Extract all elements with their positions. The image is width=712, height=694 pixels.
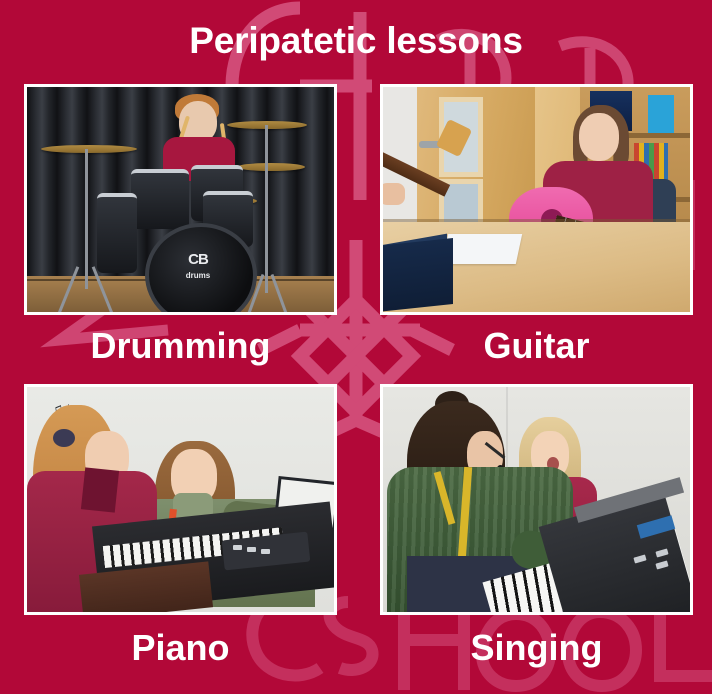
pupil-collar xyxy=(81,467,119,512)
lesson-label-singing: Singing xyxy=(380,615,693,681)
piano-photo: ♫♩ xyxy=(27,387,334,612)
guitar-photo-frame xyxy=(380,84,693,315)
lesson-card-piano[interactable]: ♫♩ xyxy=(24,384,337,686)
keyboard-button-2 xyxy=(247,547,256,552)
lesson-label-guitar: Guitar xyxy=(380,315,693,377)
lesson-card-grid: CB drums Drumming xyxy=(0,84,712,694)
tutor-hand xyxy=(383,183,405,205)
drum-brand-subtitle: drums xyxy=(186,271,210,280)
peripatetic-lessons-poster: Peripatetic lessons xyxy=(0,0,712,694)
cymbal-right-mid xyxy=(237,163,305,171)
keyboard-button-3 xyxy=(261,549,270,554)
singing-photo xyxy=(383,387,690,612)
cymbal-stand-left xyxy=(85,149,88,289)
guitar-pupil-head xyxy=(579,113,619,161)
tablet-case xyxy=(383,238,453,312)
cymbal-left xyxy=(41,145,137,153)
table-edge xyxy=(383,219,690,222)
floor-tom xyxy=(97,193,137,273)
lesson-label-piano: Piano xyxy=(24,615,337,681)
singing-photo-frame xyxy=(380,384,693,615)
tom-drum-1 xyxy=(131,169,189,229)
drumming-photo: CB drums xyxy=(27,87,334,312)
lesson-card-guitar[interactable]: Guitar xyxy=(380,84,693,386)
lesson-card-singing[interactable]: Singing xyxy=(380,384,693,686)
lesson-label-drumming: Drumming xyxy=(24,315,337,377)
drumming-photo-frame: CB drums xyxy=(24,84,337,315)
sheet-music xyxy=(442,234,522,264)
drum-brand-name: CB xyxy=(188,251,208,268)
page-title: Peripatetic lessons xyxy=(0,18,712,64)
drum-brand-logo: CB drums xyxy=(167,253,229,283)
game-box-blue xyxy=(648,95,674,133)
keyboard-button-1 xyxy=(233,545,242,550)
cymbal-stand-right xyxy=(265,125,268,293)
guitar-photo xyxy=(383,87,690,312)
piano-photo-frame: ♫♩ xyxy=(24,384,337,615)
hair-scrunchie xyxy=(53,429,75,447)
lesson-card-drumming[interactable]: CB drums Drumming xyxy=(24,84,337,386)
